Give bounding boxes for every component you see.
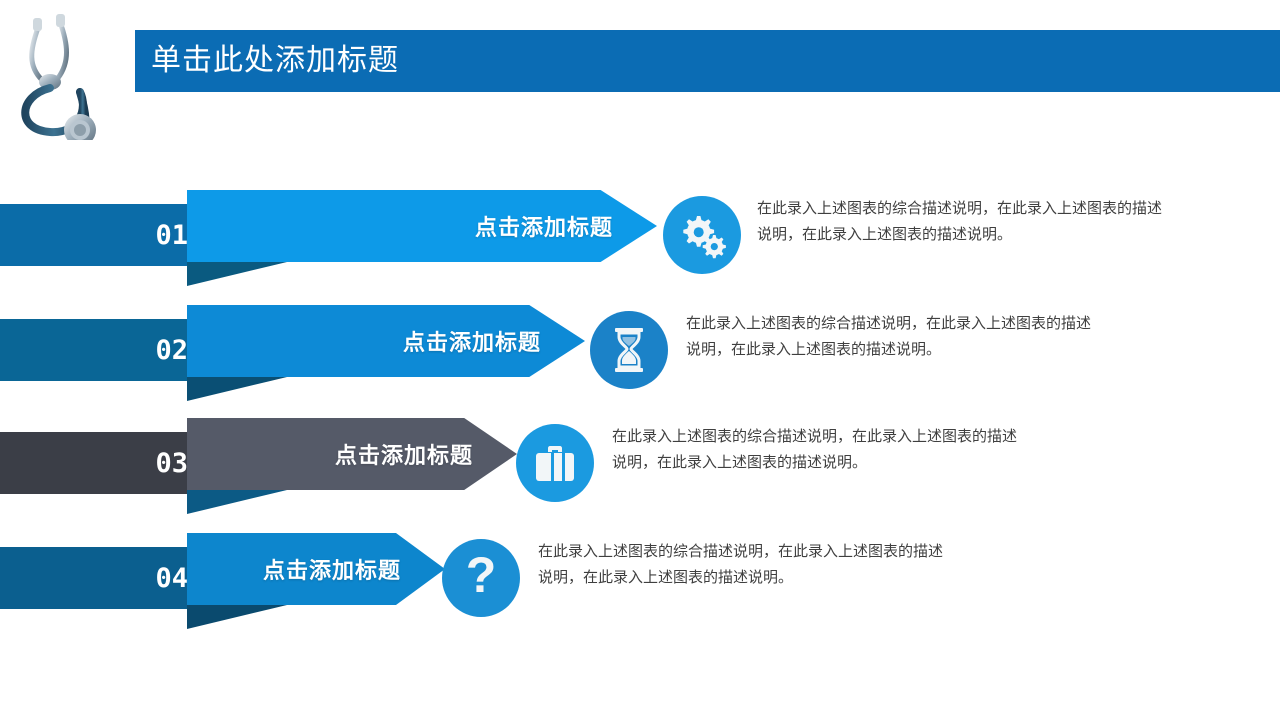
stethoscope-icon: [8, 4, 138, 140]
row-number: 04: [155, 565, 188, 592]
chevron-fold-shadow: [187, 490, 287, 514]
row-number: 02: [155, 337, 188, 364]
row-heading: 点击添加标题: [263, 553, 445, 585]
row-chevron[interactable]: 点击添加标题: [187, 533, 445, 605]
row-heading: 点击添加标题: [475, 210, 657, 242]
row-heading: 点击添加标题: [403, 325, 585, 357]
chevron-fold-shadow: [187, 605, 287, 629]
briefcase-icon: [516, 424, 594, 502]
slide-header: 单击此处添加标题: [0, 0, 1280, 120]
chevron-fold-shadow: [187, 262, 287, 286]
row-number: 01: [155, 222, 188, 249]
row-description: 在此录入上述图表的综合描述说明，在此录入上述图表的描述说明，在此录入上述图表的描…: [757, 196, 1169, 248]
title-banner[interactable]: 单击此处添加标题: [135, 30, 1280, 92]
chevron-fold-shadow: [187, 377, 287, 401]
row-description: 在此录入上述图表的综合描述说明，在此录入上述图表的描述说明，在此录入上述图表的描…: [538, 539, 950, 591]
gears-icon: [663, 196, 741, 274]
row-number-bar: 04: [0, 547, 206, 609]
page-title: 单击此处添加标题: [135, 46, 399, 76]
row-number-bar: 03: [0, 432, 206, 494]
row-number: 03: [155, 450, 188, 477]
row-number-bar: 02: [0, 319, 206, 381]
row-chevron[interactable]: 点击添加标题: [187, 305, 585, 377]
question-mark-icon: ?: [442, 539, 520, 617]
row-chevron[interactable]: 点击添加标题: [187, 418, 517, 490]
row-number-bar: 01: [0, 204, 206, 266]
hourglass-icon: [590, 311, 668, 389]
row-description: 在此录入上述图表的综合描述说明，在此录入上述图表的描述说明，在此录入上述图表的描…: [686, 311, 1098, 363]
svg-text:?: ?: [466, 552, 497, 603]
row-chevron[interactable]: 点击添加标题: [187, 190, 657, 262]
row-heading: 点击添加标题: [335, 438, 517, 470]
row-description: 在此录入上述图表的综合描述说明，在此录入上述图表的描述说明，在此录入上述图表的描…: [612, 424, 1024, 476]
